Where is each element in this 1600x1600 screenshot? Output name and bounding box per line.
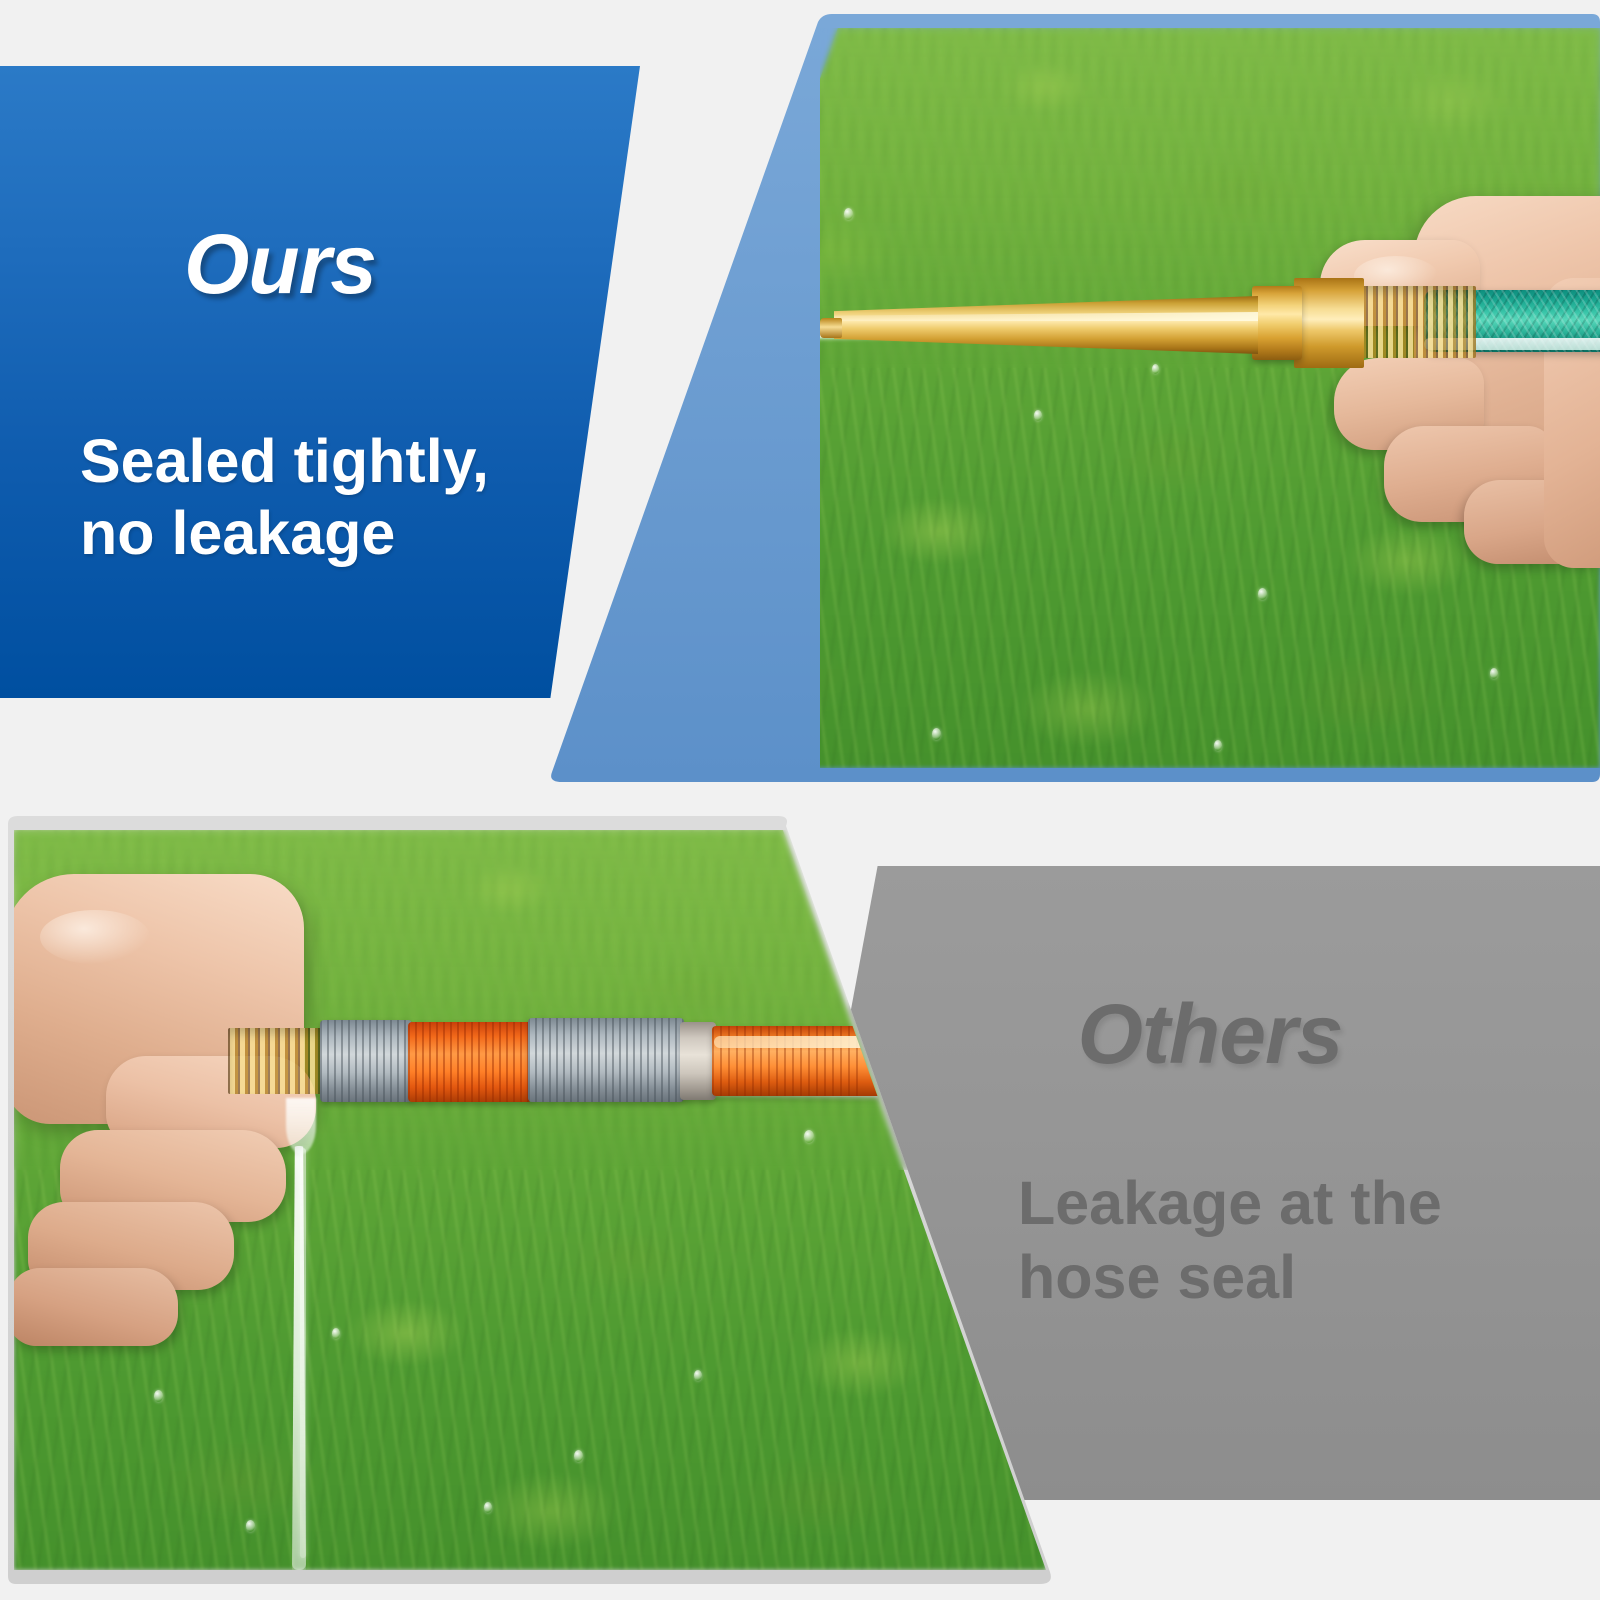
brass-nozzle-flange [1294, 278, 1364, 368]
plastic-nozzle-grey-collar [320, 1020, 412, 1102]
brass-nozzle-tip [820, 318, 842, 338]
hand-highlight [40, 910, 150, 964]
others-subtitle: Leakage at the hose seal [1018, 1166, 1600, 1315]
plastic-nozzle-grey-body [528, 1018, 684, 1102]
comparison-infographic: Ours Sealed tightly, no leakage [0, 0, 1600, 1600]
hand-little-finger [14, 1268, 178, 1346]
dew-drop [1490, 668, 1498, 679]
dew-drop [574, 1450, 583, 1462]
brass-thread-collar [228, 1028, 324, 1094]
dew-drop [246, 1520, 255, 1532]
plastic-nozzle-orange-ring [408, 1022, 532, 1102]
dew-drop [932, 728, 941, 740]
dew-drop [484, 1502, 492, 1513]
others-subtitle-line-2: hose seal [1018, 1240, 1600, 1314]
dew-drop [1258, 588, 1267, 600]
dew-drop [844, 208, 853, 220]
brass-thread-collar [1356, 286, 1476, 358]
leak-origin [286, 1098, 316, 1154]
brass-nozzle-step [1252, 286, 1302, 360]
dew-drop [804, 1130, 814, 1143]
ours-photo [534, 12, 1600, 784]
dew-drop [1034, 410, 1042, 421]
dew-drop [1152, 364, 1159, 374]
leak-stream-core [300, 1148, 306, 1558]
ours-photo-frame-svg [534, 12, 1600, 784]
dew-drop [1214, 740, 1222, 751]
ours-title: Ours [0, 216, 560, 313]
others-photo [0, 814, 1060, 1586]
others-subtitle-line-1: Leakage at the [1018, 1166, 1600, 1240]
others-photo-frame-svg [0, 814, 1060, 1586]
dew-drop [332, 1328, 340, 1339]
plastic-nozzle-collar [680, 1022, 716, 1100]
dew-drop [694, 1370, 702, 1381]
dew-drop [154, 1390, 163, 1402]
plastic-nozzle-tip-highlight [714, 1036, 894, 1048]
